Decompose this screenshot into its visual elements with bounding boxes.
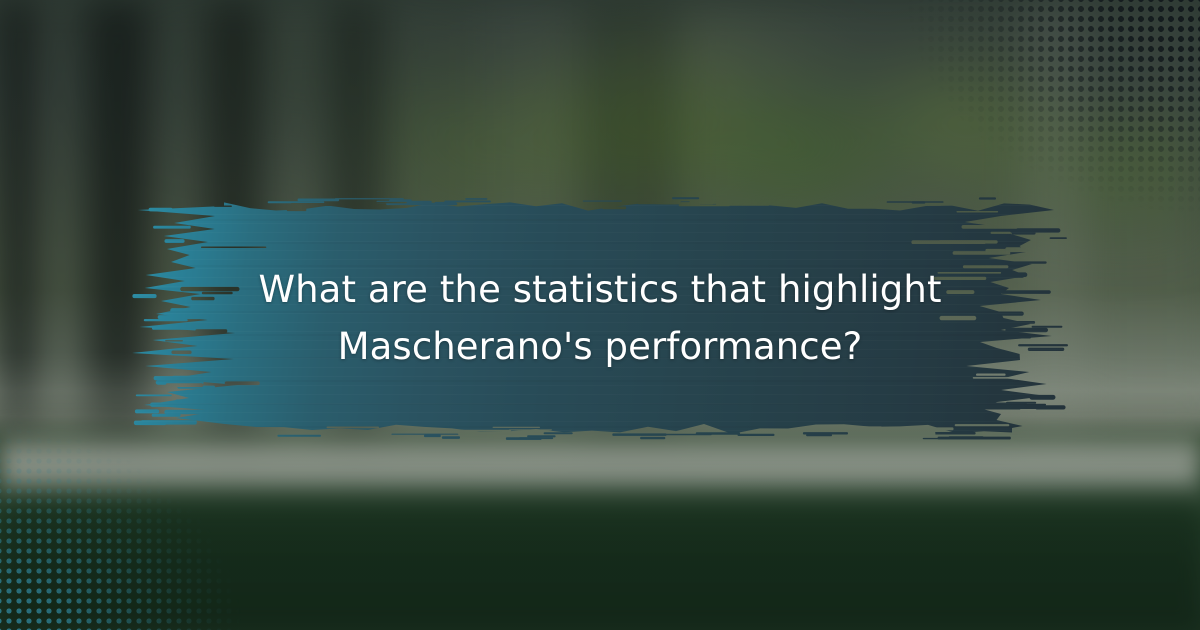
headline-block: What are the statistics that highlight M… <box>128 196 1072 440</box>
question-card: What are the statistics that highlight M… <box>0 0 1200 630</box>
headline-line-2: Mascherano's performance? <box>338 322 863 372</box>
headline-line-1: What are the statistics that highlight <box>258 265 941 315</box>
